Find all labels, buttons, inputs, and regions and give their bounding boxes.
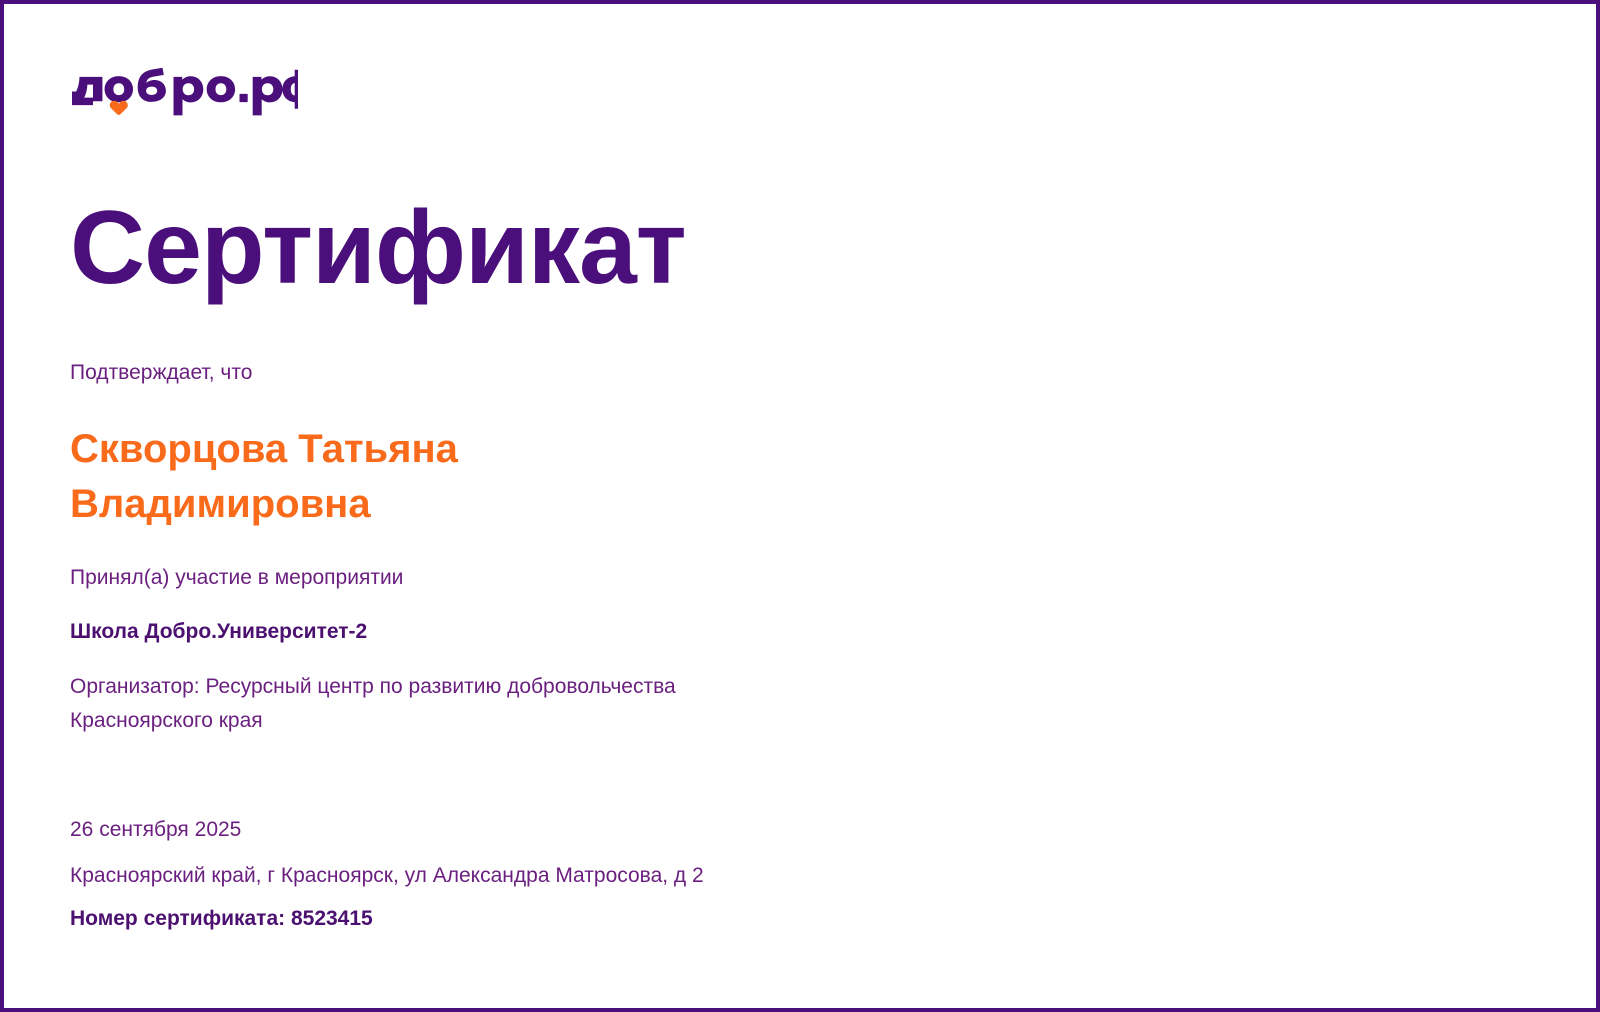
participation-label: Принял(а) участие в мероприятии [70, 564, 403, 592]
issue-date: 26 сентября 2025 [70, 816, 830, 843]
certificate-content: добро.рф Сертификат Подтверждает, что Ск… [70, 4, 1530, 1008]
dobro-rf-logo-icon [70, 60, 298, 116]
event-organizer: Организатор: Ресурсный центр по развитию… [70, 670, 750, 738]
dobro-rf-logo: добро.рф [70, 60, 298, 114]
event-name: Школа Добро.Университет-2 [70, 618, 367, 646]
confirmation-label: Подтверждает, что [70, 359, 252, 387]
issue-address: Красноярский край, г Красноярск, ул Алек… [70, 862, 830, 889]
certificate-number-value: 8523415 [291, 907, 373, 930]
heart-smile-icon [110, 101, 128, 115]
certificate-footer: 26 сентября 2025 Красноярский край, г Кр… [70, 816, 830, 932]
certificate-title: Сертификат [70, 194, 686, 303]
certificate-number: Номер сертификата: 8523415 [70, 905, 830, 932]
certificate-page: добро.рф Сертификат Подтверждает, что Ск… [0, 0, 1600, 1012]
recipient-name: Скворцова Татьяна Владимировна [70, 422, 710, 532]
certificate-number-label: Номер сертификата: [70, 907, 291, 930]
